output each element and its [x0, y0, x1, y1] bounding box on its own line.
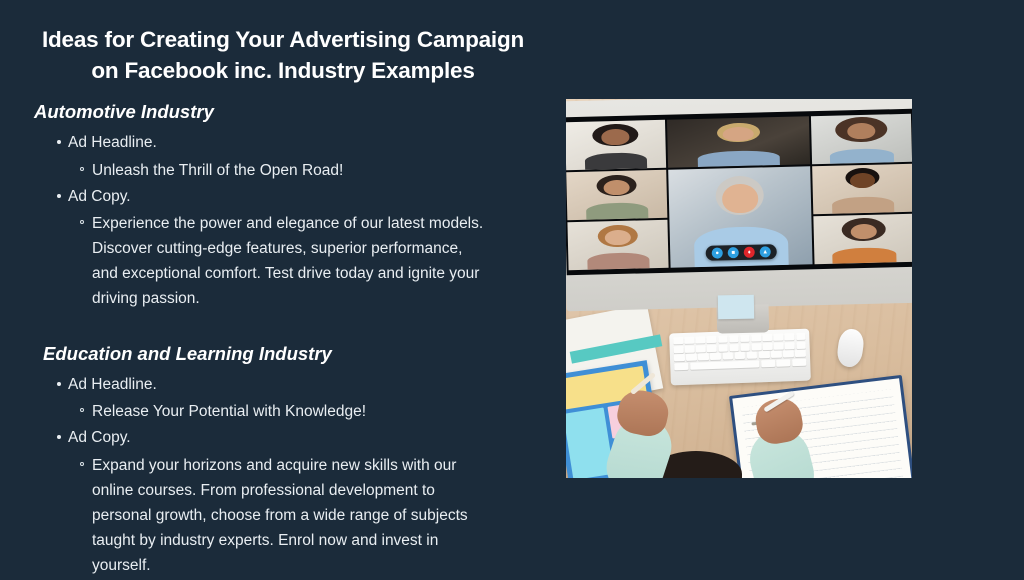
participant-tile — [813, 214, 912, 264]
bullet-disc-icon — [57, 140, 61, 144]
video-camera-icon[interactable]: ■ — [728, 247, 739, 258]
key — [759, 351, 770, 358]
key — [710, 353, 721, 360]
key — [785, 342, 795, 349]
key — [752, 343, 762, 350]
list-item: Unleash the Thrill of the Open Road! — [0, 158, 552, 183]
list-item: Ad Headline. Release Your Potential with… — [0, 373, 552, 425]
section-automotive: Automotive Industry Ad Headline. Unleash… — [0, 100, 552, 312]
participant-avatar — [812, 164, 912, 214]
monitor-screen: ● ■ ♦ ▲ — [566, 109, 912, 276]
spacebar-key — [690, 360, 760, 369]
key — [685, 345, 695, 352]
key — [773, 333, 783, 340]
key — [783, 350, 794, 357]
key — [707, 336, 717, 343]
list-item: Ad Copy. Expand your horizons and acquir… — [0, 426, 552, 578]
sub-list: Experience the power and elegance of our… — [68, 211, 552, 311]
key — [729, 344, 739, 351]
sub-list: Expand your horizons and acquire new ski… — [68, 453, 552, 579]
key — [747, 352, 758, 359]
key — [792, 358, 806, 365]
list-item-text: Expand your horizons and acquire new ski… — [92, 453, 492, 579]
key — [796, 341, 806, 348]
bullet-list-automotive: Ad Headline. Unleash the Thrill of the O… — [0, 131, 552, 312]
key — [763, 342, 773, 349]
participant-avatar — [667, 116, 810, 167]
participant-tile — [811, 114, 912, 164]
title-line-2: on Facebook inc. Industry Examples — [0, 55, 566, 86]
participant-tile — [567, 220, 668, 270]
sub-list: Release Your Potential with Knowledge! — [68, 399, 552, 424]
list-item-label: Ad Headline. — [68, 376, 157, 393]
participant-tile — [566, 120, 666, 170]
bullet-disc-icon — [57, 382, 61, 386]
key — [674, 363, 688, 370]
page-title: Ideas for Creating Your Advertising Camp… — [0, 24, 566, 86]
list-item: Release Your Potential with Knowledge! — [0, 399, 552, 424]
key — [698, 353, 709, 360]
key — [771, 351, 782, 358]
bullet-list-education: Ad Headline. Release Your Potential with… — [0, 373, 552, 579]
participant-avatar — [567, 220, 668, 270]
microphone-icon[interactable]: ● — [712, 247, 723, 258]
bullet-circle-icon — [80, 167, 84, 171]
participant-tile — [812, 164, 912, 214]
key — [762, 334, 772, 341]
list-item-text: Experience the power and elegance of our… — [92, 211, 492, 311]
key — [761, 360, 775, 367]
list-item: Expand your horizons and acquire new ski… — [0, 453, 552, 579]
participant-tile — [667, 116, 810, 167]
key — [718, 335, 728, 342]
computer-monitor: ● ■ ♦ ▲ — [566, 99, 912, 311]
key — [740, 335, 750, 342]
participant-avatar — [566, 170, 667, 220]
bullet-circle-icon — [80, 462, 84, 466]
key — [795, 350, 806, 357]
key — [796, 333, 806, 340]
list-item-label: Ad Headline. — [68, 134, 157, 151]
list-item: Ad Headline. Unleash the Thrill of the O… — [0, 131, 552, 183]
bullet-disc-icon — [57, 435, 61, 439]
bullet-disc-icon — [57, 194, 61, 198]
key — [785, 333, 795, 340]
content-column: Automotive Industry Ad Headline. Unleash… — [0, 100, 552, 580]
sub-list: Unleash the Thrill of the Open Road! — [68, 158, 552, 183]
key — [696, 336, 706, 343]
key — [674, 346, 684, 353]
section-heading-education: Education and Learning Industry — [0, 342, 552, 366]
key — [729, 335, 739, 342]
slide-photo: ● ■ ♦ ▲ — [566, 99, 912, 478]
list-item-label: Ad Copy. — [68, 188, 131, 205]
participant-avatar — [811, 114, 912, 164]
bullet-circle-icon — [80, 220, 84, 224]
sticky-note-under-monitor — [718, 295, 754, 320]
active-speaker-tile: ● ■ ♦ ▲ — [668, 166, 812, 267]
screen-share-icon[interactable]: ▲ — [760, 246, 771, 257]
key — [707, 344, 717, 351]
title-line-1: Ideas for Creating Your Advertising Camp… — [0, 24, 566, 55]
participant-tile — [566, 170, 667, 220]
participant-avatar — [813, 214, 912, 264]
participant-avatar — [566, 120, 666, 170]
bullet-circle-icon — [80, 408, 84, 412]
list-item: Experience the power and elegance of our… — [0, 211, 552, 311]
key — [722, 352, 733, 359]
list-item-label: Ad Copy. — [68, 429, 131, 446]
key — [673, 337, 683, 344]
list-item-text: Release Your Potential with Knowledge! — [92, 399, 492, 424]
key — [686, 354, 697, 361]
key — [684, 337, 694, 344]
video-call-grid: ● ■ ♦ ▲ — [566, 114, 912, 271]
section-education: Education and Learning Industry Ad Headl… — [0, 342, 552, 579]
key — [740, 343, 750, 350]
key — [777, 359, 791, 366]
section-heading-automotive: Automotive Industry — [0, 100, 552, 124]
list-item: Ad Copy. Experience the power and elegan… — [0, 185, 552, 312]
call-control-bar[interactable]: ● ■ ♦ ▲ — [706, 244, 777, 261]
keyboard — [669, 329, 811, 386]
key — [718, 344, 728, 351]
key — [696, 345, 706, 352]
list-item-text: Unleash the Thrill of the Open Road! — [92, 158, 492, 183]
key — [774, 342, 784, 349]
key — [674, 354, 685, 361]
key — [735, 352, 746, 359]
hang-up-icon[interactable]: ♦ — [744, 247, 755, 258]
key — [751, 334, 761, 341]
